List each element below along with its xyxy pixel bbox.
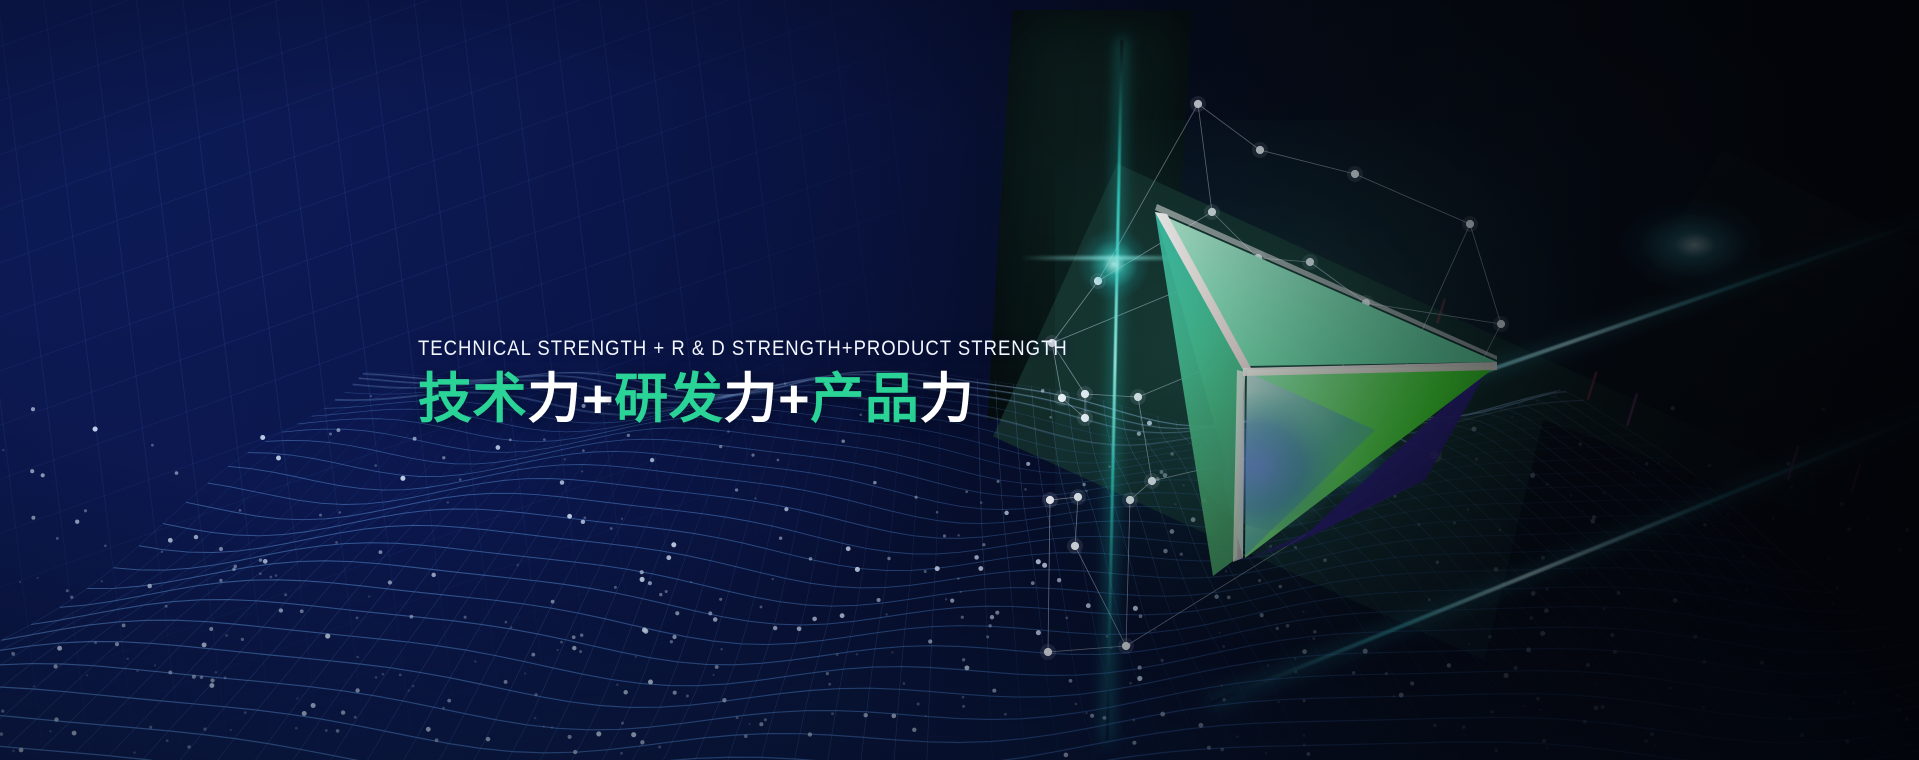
accent-tick-red-1 bbox=[1587, 371, 1598, 400]
constellation-network bbox=[1000, 0, 1919, 760]
network-node-13 bbox=[1208, 208, 1216, 216]
diagonal-light-beam-lower bbox=[1211, 379, 1919, 705]
headline-segment-4: 力 bbox=[723, 369, 778, 429]
network-node-15 bbox=[1306, 258, 1314, 266]
network-node-21 bbox=[1466, 220, 1474, 228]
network-node-19 bbox=[1430, 451, 1438, 459]
network-node-23 bbox=[1256, 146, 1264, 154]
network-node-16 bbox=[1315, 318, 1323, 326]
headline-segment-7: 力 bbox=[920, 369, 975, 429]
network-node-8 bbox=[1126, 496, 1134, 504]
accent-tick-magenta-2 bbox=[1787, 445, 1799, 480]
network-node-12 bbox=[1044, 648, 1052, 656]
headline-segment-5: + bbox=[778, 369, 810, 429]
network-node-18 bbox=[1374, 424, 1382, 432]
vertical-beam-flare bbox=[1078, 228, 1150, 300]
headline-block: TECHNICAL STRENGTH + R & D STRENGTH+PROD… bbox=[418, 336, 1038, 429]
network-node-3 bbox=[1081, 414, 1089, 422]
network-node-14 bbox=[1254, 254, 1262, 262]
headline-segment-3: 研发 bbox=[614, 369, 723, 429]
network-node-9 bbox=[1046, 496, 1054, 504]
dark-triangle-facet bbox=[1460, 420, 1919, 760]
3d-arrow-triangle bbox=[1125, 180, 1545, 600]
page-title: 技术力+研发力+产品力 bbox=[418, 369, 1038, 429]
upper-beam-flare bbox=[1620, 200, 1770, 290]
network-node-0 bbox=[1094, 277, 1102, 285]
diagonal-light-beam-upper bbox=[1202, 193, 1919, 470]
network-node-4 bbox=[1058, 394, 1066, 402]
network-node-22 bbox=[1351, 170, 1359, 178]
dark-band-facet bbox=[993, 164, 1919, 760]
accent-tick-magenta-1 bbox=[1626, 393, 1638, 426]
triangle-graphic-wrapper bbox=[1125, 180, 1545, 600]
headline-segment-0: 技术 bbox=[418, 369, 527, 429]
network-node-10 bbox=[1071, 542, 1079, 550]
headline-segment-1: 力 bbox=[527, 369, 582, 429]
network-node-24 bbox=[1194, 100, 1202, 108]
triangle-glow bbox=[1055, 120, 1615, 660]
accent-tick-red-2 bbox=[1850, 462, 1861, 493]
vertical-light-beam bbox=[1106, 40, 1124, 740]
headline-segment-2: + bbox=[582, 369, 614, 429]
hero-banner: TECHNICAL STRENGTH + R & D STRENGTH+PROD… bbox=[0, 0, 1919, 760]
network-node-20 bbox=[1497, 320, 1505, 328]
lower-beam-flare bbox=[1270, 420, 1400, 500]
network-node-6 bbox=[1074, 493, 1082, 501]
vertical-beam-streak bbox=[1020, 256, 1210, 260]
dark-wedge-facet bbox=[1580, 150, 1919, 480]
eyebrow-text: TECHNICAL STRENGTH + R & D STRENGTH+PROD… bbox=[418, 336, 951, 361]
network-node-7 bbox=[1148, 477, 1156, 485]
headline-segment-6: 产品 bbox=[810, 369, 919, 429]
network-node-17 bbox=[1362, 299, 1370, 307]
network-node-5 bbox=[1134, 393, 1142, 401]
network-node-11 bbox=[1122, 642, 1130, 650]
mesh-glow bbox=[0, 420, 1919, 760]
network-node-2 bbox=[1081, 390, 1089, 398]
accent-tick-red-3 bbox=[1436, 298, 1446, 323]
